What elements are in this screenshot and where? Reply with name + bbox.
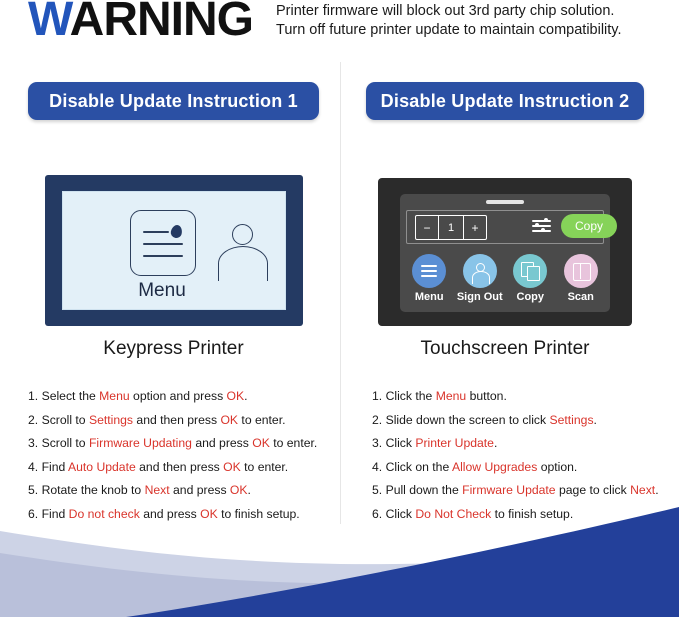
step-item: 4. Find Auto Update and then press OK to…	[28, 460, 336, 474]
step-keyword: OK	[200, 507, 218, 521]
hamburger-icon	[412, 254, 446, 288]
step-text: to enter.	[270, 436, 317, 450]
step-number: 4.	[372, 460, 386, 474]
step-keyword: Firmware Update	[462, 483, 555, 497]
touchscreen-button-copy-label: Copy	[517, 291, 545, 303]
header-description-line-1: Printer firmware will block out 3rd part…	[276, 2, 676, 21]
step-text: .	[248, 483, 251, 497]
copy-pages-icon	[513, 254, 547, 288]
step-number: 4.	[28, 460, 42, 474]
person-icon	[216, 224, 268, 270]
step-keyword: Next	[630, 483, 655, 497]
column-divider	[340, 62, 341, 524]
step-keyword: OK	[220, 413, 238, 427]
swoosh-pale	[0, 531, 679, 617]
step-text: button.	[466, 389, 507, 403]
sliders-icon[interactable]	[532, 218, 551, 235]
step-item: 1. Click the Menu button.	[372, 389, 672, 403]
touchscreen-button-scan-label: Scan	[568, 291, 594, 303]
step-text: Click	[386, 436, 416, 450]
warning-heading: WARNING	[28, 0, 253, 46]
step-keyword: OK	[223, 460, 241, 474]
sliders-icon-row-1	[532, 220, 551, 222]
step-keyword: Allow Upgrades	[452, 460, 537, 474]
step-text: option.	[537, 460, 577, 474]
step-number: 3.	[372, 436, 386, 450]
hamburger-icon-bars	[421, 265, 437, 277]
menu-card-dot-icon	[170, 224, 183, 239]
menu-card-line-1	[143, 231, 169, 233]
step-number: 5.	[372, 483, 386, 497]
step-number: 6.	[28, 507, 42, 521]
disable-update-instruction-2-label: Disable Update Instruction 2	[381, 91, 630, 112]
step-number: 2.	[372, 413, 386, 427]
disable-update-instruction-2-banner[interactable]: Disable Update Instruction 2	[366, 82, 644, 120]
step-number: 2.	[28, 413, 42, 427]
stepper-value: 1	[439, 216, 464, 239]
step-text: to enter.	[238, 413, 285, 427]
step-text: Pull down the	[386, 483, 463, 497]
disable-update-instruction-1-banner[interactable]: Disable Update Instruction 1	[28, 82, 319, 120]
person-icon	[463, 254, 497, 288]
keypress-printer-screen: Menu	[62, 191, 286, 310]
sliders-icon-knob-1	[544, 218, 548, 222]
sliders-icon-knob-3	[541, 228, 545, 232]
step-keyword: Settings	[89, 413, 133, 427]
touchscreen-button-scan[interactable]: Scan	[556, 254, 607, 303]
stepper-increment-button[interactable]: +	[464, 216, 486, 239]
copy-action-button-label: Copy	[575, 219, 603, 233]
step-text: and press	[192, 436, 252, 450]
step-keyword: Menu	[436, 389, 467, 403]
copy-action-button[interactable]: Copy	[561, 214, 617, 238]
step-keyword: OK	[227, 389, 245, 403]
step-text: to finish setup.	[491, 507, 573, 521]
step-text: and press	[170, 483, 230, 497]
step-item: 4. Click on the Allow Upgrades option.	[372, 460, 672, 474]
keypress-printer-steps: 1. Select the Menu option and press OK.2…	[28, 389, 336, 530]
scan-icon	[564, 254, 598, 288]
person-icon-shape	[471, 263, 489, 280]
step-number: 1.	[28, 389, 42, 403]
touchscreen-printer-device: − 1 + Copy	[378, 178, 632, 326]
person-icon-body	[218, 246, 268, 281]
step-item: 2. Scroll to Settings and then press OK …	[28, 413, 336, 427]
step-text: Select the	[42, 389, 100, 403]
step-item: 6. Click Do Not Check to finish setup.	[372, 507, 672, 521]
menu-card-line-3	[143, 255, 183, 257]
step-text: and press	[140, 507, 200, 521]
warning-heading-rest: ARNING	[70, 0, 253, 46]
touchscreen-notch	[486, 200, 524, 204]
step-text: .	[494, 436, 497, 450]
step-item: 5. Rotate the knob to Next and press OK.	[28, 483, 336, 497]
poster-root: WARNING Printer firmware will block out …	[0, 0, 679, 617]
step-text: .	[594, 413, 597, 427]
step-item: 5. Pull down the Firmware Update page to…	[372, 483, 672, 497]
touchscreen-top-bar: − 1 + Copy	[406, 210, 604, 244]
step-text: Slide down the screen to click	[386, 413, 550, 427]
scan-icon-shape	[572, 263, 590, 280]
step-keyword: Menu	[99, 389, 130, 403]
step-keyword: Do Not Check	[415, 507, 491, 521]
copy-quantity-stepper[interactable]: − 1 +	[415, 215, 487, 240]
sliders-icon-knob-2	[535, 223, 539, 227]
step-item: 1. Select the Menu option and press OK.	[28, 389, 336, 403]
step-keyword: OK	[252, 436, 270, 450]
step-text: Click	[386, 507, 416, 521]
swoosh-light	[0, 553, 679, 617]
touchscreen-button-menu[interactable]: Menu	[404, 254, 455, 303]
step-number: 5.	[28, 483, 42, 497]
step-keyword: Settings	[550, 413, 594, 427]
step-keyword: Do not check	[69, 507, 140, 521]
step-item: 6. Find Do not check and press OK to fin…	[28, 507, 336, 521]
keypress-printer-caption: Keypress Printer	[28, 338, 319, 360]
keypress-printer-device: Menu	[45, 175, 303, 326]
step-item: 3. Click Printer Update.	[372, 436, 672, 450]
step-keyword: Auto Update	[68, 460, 136, 474]
copy-pages-icon-shape	[521, 262, 539, 280]
touchscreen-printer-steps: 1. Click the Menu button.2. Slide down t…	[372, 389, 672, 530]
step-keyword: Firmware Updating	[89, 436, 192, 450]
touchscreen-button-copy[interactable]: Copy	[505, 254, 556, 303]
step-text: to finish setup.	[218, 507, 300, 521]
step-item: 3. Scroll to Firmware Updating and press…	[28, 436, 336, 450]
step-text: Click on the	[386, 460, 452, 474]
step-text: Scroll to	[42, 413, 89, 427]
header-description: Printer firmware will block out 3rd part…	[276, 2, 676, 40]
step-number: 6.	[372, 507, 386, 521]
step-text: to enter.	[241, 460, 288, 474]
disable-update-instruction-1-label: Disable Update Instruction 1	[49, 91, 298, 112]
touchscreen-button-sign-out-label: Sign Out	[457, 291, 503, 303]
step-text: .	[655, 483, 658, 497]
step-keyword: Next	[145, 483, 170, 497]
step-text: and then press	[136, 460, 223, 474]
menu-card-icon	[130, 210, 196, 276]
step-keyword: OK	[230, 483, 248, 497]
touchscreen-printer-caption: Touchscreen Printer	[366, 338, 644, 360]
step-text: Find	[42, 507, 69, 521]
step-text: and then press	[133, 413, 220, 427]
menu-card-line-2	[143, 243, 183, 245]
step-text: Scroll to	[42, 436, 89, 450]
step-number: 1.	[372, 389, 386, 403]
step-text: Rotate the knob to	[42, 483, 145, 497]
header-description-line-2: Turn off future printer update to mainta…	[276, 21, 676, 40]
header: WARNING Printer firmware will block out …	[0, 0, 679, 58]
keypress-menu-label: Menu	[115, 280, 209, 302]
person-icon-head	[232, 224, 253, 245]
step-text: option and press	[130, 389, 227, 403]
touchscreen-button-menu-label: Menu	[415, 291, 444, 303]
warning-heading-first-letter: W	[28, 0, 70, 46]
step-keyword: Printer Update	[415, 436, 494, 450]
step-text: Find	[42, 460, 68, 474]
step-text: page to click	[556, 483, 631, 497]
touchscreen-panel: − 1 + Copy	[400, 194, 610, 312]
step-text: .	[244, 389, 247, 403]
step-item: 2. Slide down the screen to click Settin…	[372, 413, 672, 427]
touchscreen-button-sign-out[interactable]: Sign Out	[455, 254, 506, 303]
stepper-decrement-button[interactable]: −	[416, 216, 439, 239]
step-number: 3.	[28, 436, 42, 450]
step-text: Click the	[386, 389, 436, 403]
touchscreen-app-buttons: Menu Sign Out Copy	[404, 254, 606, 316]
